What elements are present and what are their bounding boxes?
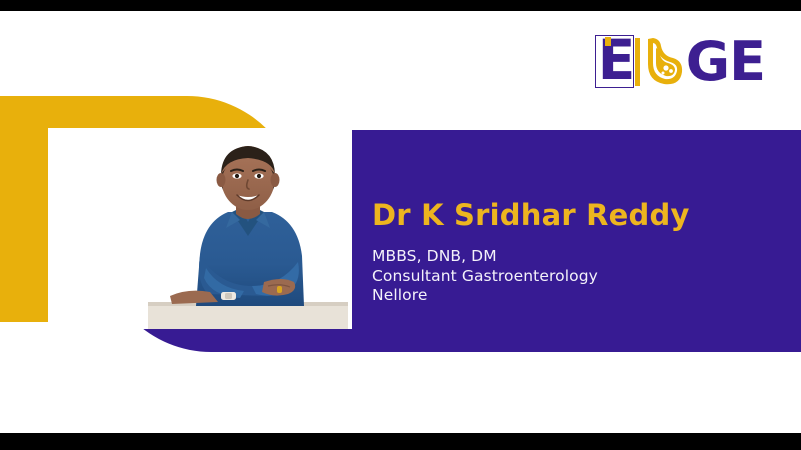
speaker-portrait (148, 136, 348, 329)
logo-letter-e-first: E (593, 34, 637, 90)
speaker-name: Dr K Sridhar Reddy (372, 197, 772, 233)
logo-accent-tick-icon (605, 37, 611, 46)
speaker-designation: Consultant Gastroenterology (372, 267, 772, 287)
logo-letter-g: G (686, 35, 729, 89)
edge-logo: E G E (593, 33, 765, 91)
speaker-info: Dr K Sridhar Reddy MBBS, DNB, DM Consult… (372, 197, 772, 306)
speaker-location: Nellore (372, 286, 772, 306)
video-slide-frame: E G E (0, 0, 801, 450)
slide-canvas: E G E (0, 11, 801, 433)
logo-e-glyph-text: E (598, 33, 636, 88)
speaker-credentials: MBBS, DNB, DM (372, 247, 772, 267)
logo-letters-ge: G E (686, 35, 765, 89)
stomach-icon (639, 34, 685, 90)
logo-letter-e-last: E (729, 35, 765, 89)
letterbox-bar-bottom (0, 433, 801, 450)
letterbox-bar-top (0, 0, 801, 11)
speaker-photo-card (48, 128, 352, 329)
